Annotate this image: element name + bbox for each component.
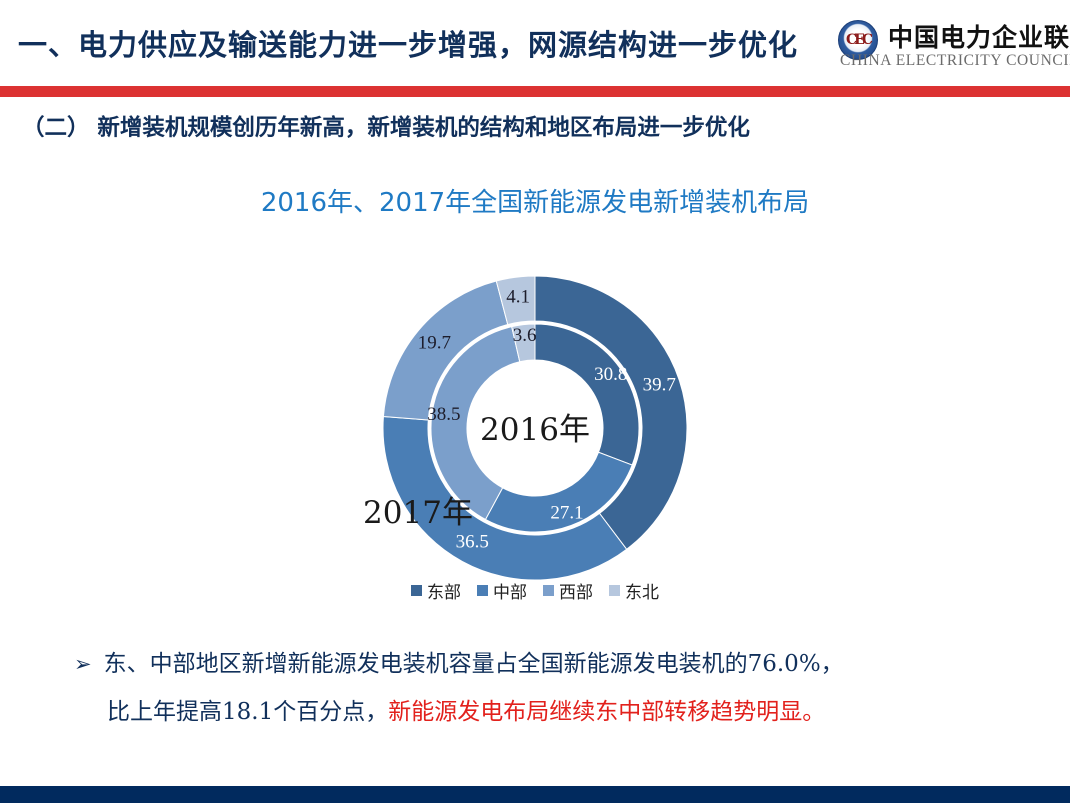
footer-bar bbox=[0, 786, 1070, 803]
legend-item[interactable]: 东北 bbox=[609, 578, 659, 603]
slice-value-label: 27.1 bbox=[550, 503, 583, 524]
note-line-1: ➢ 东、中部地区新增新能源发电装机容量占全国新能源发电装机的76.0%， bbox=[74, 640, 1014, 688]
organization-logo: CEC 中国电力企业联合会 CHINA ELECTRICITY COUNCIL bbox=[838, 18, 1064, 78]
legend-label: 东北 bbox=[625, 578, 659, 603]
note-line-2-red-text: 新能源发电布局继续东中部转移趋势明显。 bbox=[388, 688, 825, 736]
legend-item[interactable]: 东部 bbox=[411, 578, 461, 603]
slice-value-label: 36.5 bbox=[456, 531, 489, 552]
emblem-initials: CEC bbox=[846, 32, 870, 48]
inner-ring-center-label: 2016年 bbox=[480, 412, 590, 448]
summary-note: ➢ 东、中部地区新增新能源发电装机容量占全国新能源发电装机的76.0%， 比上年… bbox=[74, 640, 1014, 736]
slide-header: 一、电力供应及输送能力进一步增强，网源结构进一步优化 CEC 中国电力企业联合会… bbox=[0, 0, 1070, 86]
legend-color-swatch bbox=[543, 585, 554, 596]
header-red-divider bbox=[0, 86, 1070, 97]
slice-value-label: 19.7 bbox=[418, 333, 451, 354]
slice-value-label: 30.8 bbox=[594, 364, 627, 385]
slice-value-label: 3.6 bbox=[513, 325, 537, 346]
slice-value-label: 4.1 bbox=[506, 286, 530, 307]
chart-legend: 东部中部西部东北 bbox=[0, 578, 1070, 603]
slice-value-label: 38.5 bbox=[427, 404, 460, 425]
legend-color-swatch bbox=[609, 585, 620, 596]
legend-color-swatch bbox=[477, 585, 488, 596]
logo-name-english: CHINA ELECTRICITY COUNCIL bbox=[840, 52, 1070, 70]
legend-color-swatch bbox=[411, 585, 422, 596]
note-line-2: 比上年提高18.1个百分点， 新能源发电布局继续东中部转移趋势明显。 bbox=[74, 688, 1014, 736]
nested-donut-chart: 39.736.519.74.130.827.138.53.6 2016年 201… bbox=[300, 248, 770, 608]
legend-label: 东部 bbox=[427, 578, 461, 603]
slice-value-label: 39.7 bbox=[643, 375, 676, 396]
legend-label: 西部 bbox=[559, 578, 593, 603]
section-subtitle: （二） 新增装机规模创历年新高，新增装机的结构和地区布局进一步优化 bbox=[22, 110, 750, 142]
legend-item[interactable]: 中部 bbox=[477, 578, 527, 603]
donut-chart-svg: 39.736.519.74.130.827.138.53.6 2016年 201… bbox=[300, 248, 770, 608]
note-line-2-black-text: 比上年提高18.1个百分点， bbox=[107, 688, 388, 736]
legend-item[interactable]: 西部 bbox=[543, 578, 593, 603]
chart-title: 2016年、2017年全国新能源发电新增装机布局 bbox=[0, 182, 1070, 219]
page-title: 一、电力供应及输送能力进一步增强，网源结构进一步优化 bbox=[18, 22, 798, 64]
logo-name-chinese: 中国电力企业联合会 bbox=[888, 18, 1070, 54]
outer-ring-center-label: 2017年 bbox=[363, 495, 473, 531]
bullet-arrow-icon: ➢ bbox=[74, 640, 92, 688]
note-line-1-text: 东、中部地区新增新能源发电装机容量占全国新能源发电装机的76.0%， bbox=[104, 640, 844, 688]
legend-label: 中部 bbox=[493, 578, 527, 603]
